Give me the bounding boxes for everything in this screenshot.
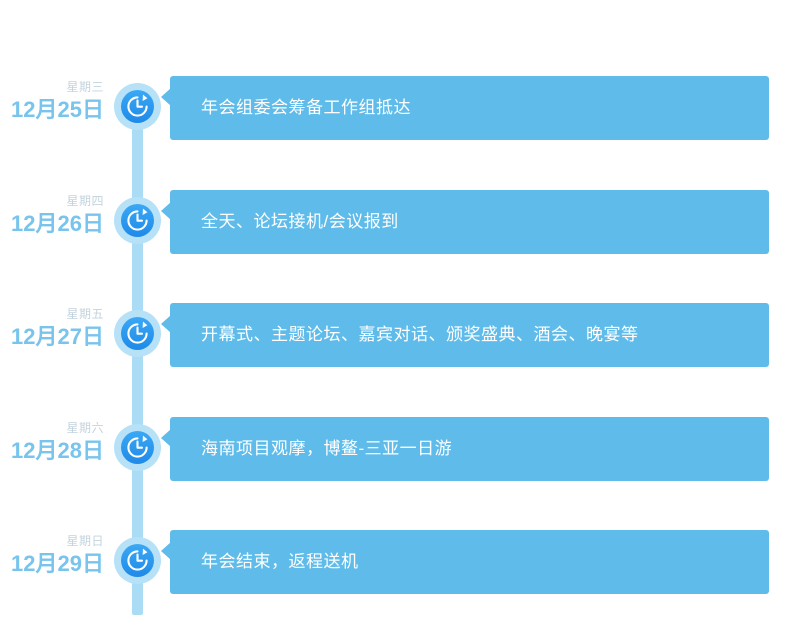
timeline-content-bar[interactable]: 年会组委会筹备工作组抵达	[170, 76, 769, 140]
weekday-label: 星期六	[0, 421, 104, 435]
timeline-row[interactable]: 星期日 12月29日 年会结束，返程送机	[0, 530, 800, 594]
timeline-node-marker[interactable]	[114, 83, 161, 130]
timeline-item-text: 年会组委会筹备工作组抵达	[170, 96, 411, 120]
timeline-date-block: 星期四 12月26日	[0, 190, 112, 254]
weekday-label: 星期三	[0, 80, 104, 94]
clock-history-icon	[121, 431, 154, 464]
date-label: 12月25日	[0, 96, 104, 124]
timeline-date-block: 星期六 12月28日	[0, 417, 112, 481]
timeline-row[interactable]: 星期四 12月26日 全天、论坛接机/会议报到	[0, 190, 800, 254]
timeline-date-block: 星期五 12月27日	[0, 303, 112, 367]
timeline-content-bar[interactable]: 全天、论坛接机/会议报到	[170, 190, 769, 254]
timeline-date-block: 星期日 12月29日	[0, 530, 112, 594]
timeline-item-text: 全天、论坛接机/会议报到	[170, 210, 399, 234]
timeline-content-bar[interactable]: 开幕式、主题论坛、嘉宾对话、颁奖盛典、酒会、晚宴等	[170, 303, 769, 367]
weekday-label: 星期四	[0, 194, 104, 208]
timeline-row[interactable]: 星期六 12月28日 海南项目观摩，博鳌-三亚一日游	[0, 417, 800, 481]
timeline-item-text: 开幕式、主题论坛、嘉宾对话、颁奖盛典、酒会、晚宴等	[170, 323, 639, 347]
weekday-label: 星期五	[0, 307, 104, 321]
timeline-item-text: 海南项目观摩，博鳌-三亚一日游	[170, 437, 452, 461]
timeline-date-block: 星期三 12月25日	[0, 76, 112, 140]
timeline-content-bar[interactable]: 海南项目观摩，博鳌-三亚一日游	[170, 417, 769, 481]
timeline-node-marker[interactable]	[114, 424, 161, 471]
bar-tail-arrow	[161, 202, 171, 220]
timeline-row[interactable]: 星期三 12月25日 年会组委会筹备工作组抵达	[0, 76, 800, 140]
timeline-content-bar[interactable]: 年会结束，返程送机	[170, 530, 769, 594]
weekday-label: 星期日	[0, 534, 104, 548]
timeline-node-marker[interactable]	[114, 537, 161, 584]
clock-history-icon	[121, 544, 154, 577]
bar-tail-arrow	[161, 542, 171, 560]
timeline-diagram: 星期三 12月25日 年会组委会筹备工作组抵达 星期四 12月26日	[0, 0, 800, 642]
timeline-node-marker[interactable]	[114, 197, 161, 244]
clock-history-icon	[121, 204, 154, 237]
date-label: 12月29日	[0, 550, 104, 578]
date-label: 12月26日	[0, 210, 104, 238]
clock-history-icon	[121, 90, 154, 123]
timeline-node-marker[interactable]	[114, 310, 161, 357]
date-label: 12月28日	[0, 437, 104, 465]
bar-tail-arrow	[161, 429, 171, 447]
timeline-item-text: 年会结束，返程送机	[170, 550, 359, 574]
bar-tail-arrow	[161, 315, 171, 333]
timeline-row[interactable]: 星期五 12月27日 开幕式、主题论坛、嘉宾对话、颁奖盛典、酒会、晚宴等	[0, 303, 800, 367]
date-label: 12月27日	[0, 323, 104, 351]
bar-tail-arrow	[161, 88, 171, 106]
clock-history-icon	[121, 317, 154, 350]
